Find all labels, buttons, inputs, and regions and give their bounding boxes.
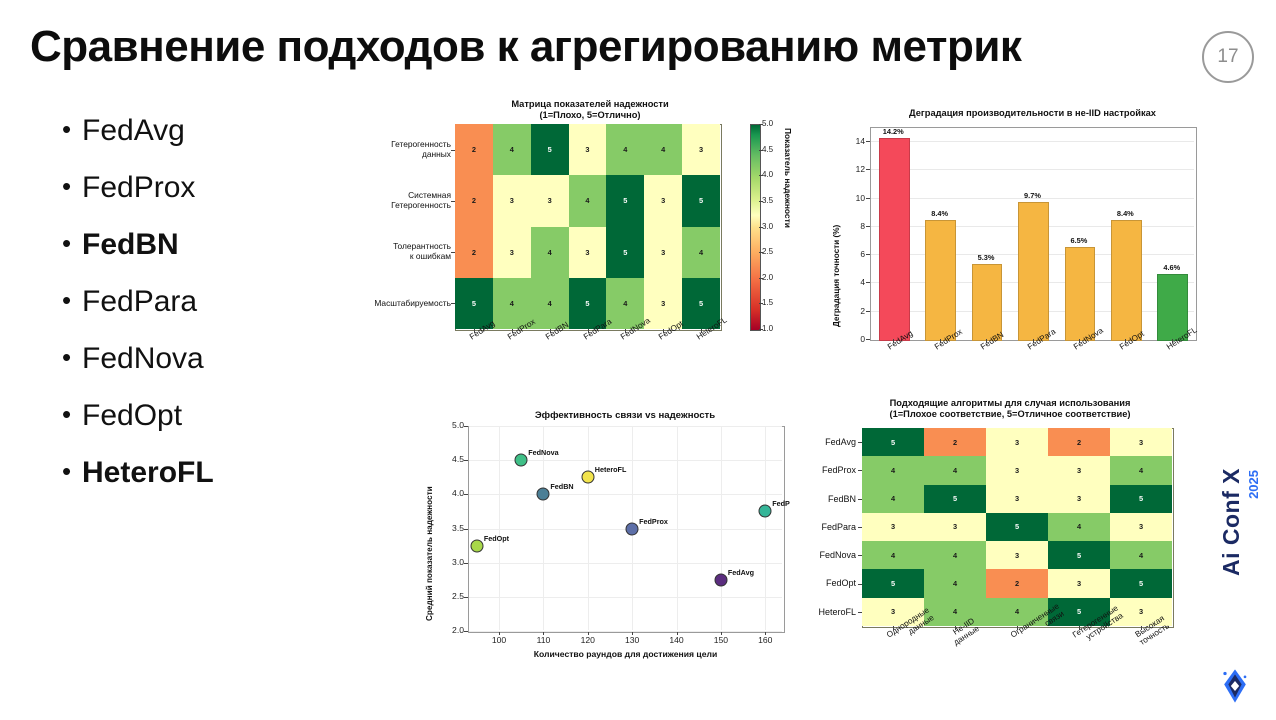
colorbar-tick: 3.0 [762, 222, 773, 231]
scatter-point [537, 488, 550, 501]
heatmap-cell: 5 [924, 485, 986, 513]
axis-tick [451, 150, 455, 151]
logo-name: Ai Conf X [1218, 468, 1245, 576]
axis-tick [451, 303, 455, 304]
row-label-line: Масштабируемость [374, 299, 451, 309]
bullet-label: FedProx [82, 173, 195, 203]
y-axis-tick-label: 2 [847, 306, 865, 316]
heatmap-cell: 5 [986, 513, 1048, 541]
axis-tick [866, 311, 870, 312]
axis-tick [858, 612, 862, 613]
heatmap-cell: 2 [986, 569, 1048, 597]
axis-tick [512, 329, 513, 333]
heatmap-cell: 5 [862, 428, 924, 456]
axis-tick [464, 426, 468, 427]
chart-title-line2: (1=Плохо, 5=Отлично) [410, 110, 770, 121]
heatmap-cell: 4 [924, 569, 986, 597]
axis-tick [464, 563, 468, 564]
y-axis-tick-label: 4.5 [442, 454, 464, 464]
scatter-point [515, 454, 528, 467]
colorbar-tick-mark [759, 124, 763, 125]
heatmap-cell: 3 [986, 428, 1048, 456]
heatmap-cell: 4 [606, 124, 644, 175]
y-axis-tick-label: 14 [847, 136, 865, 146]
scatter-point-label: FedBN [550, 482, 573, 491]
chart-comm-efficiency: Эффективность связи vs надежность 100110… [420, 404, 820, 684]
bar-value-label: 14.2% [873, 127, 914, 136]
x-axis-tick-label: 130 [619, 635, 645, 645]
y-axis-tick-label: 12 [847, 164, 865, 174]
axis-tick [1141, 626, 1142, 630]
scatter-point [581, 471, 594, 484]
heatmap-row-label: FedNova [794, 541, 856, 569]
axis-tick [1172, 339, 1173, 343]
axis-tick [701, 329, 702, 333]
colorbar-tick: 2.5 [762, 247, 773, 256]
conference-logo: Ai Conf X 2025 [1212, 468, 1270, 708]
gridline [871, 141, 1194, 142]
heatmap-cell: 2 [455, 227, 493, 278]
chart-title: Подходящие алгоритмы для случая использо… [810, 398, 1210, 421]
axis-tick [858, 527, 862, 528]
heatmap-cell: 3 [862, 513, 924, 541]
axis-tick [588, 329, 589, 333]
bar [925, 220, 956, 341]
axis-tick [451, 201, 455, 202]
heatmap-cell: 3 [1048, 485, 1110, 513]
bar [972, 264, 1003, 341]
heatmap-row-label: Толерантностьк ошибкам [383, 227, 451, 278]
y-axis-tick-label: 2.0 [442, 625, 464, 635]
bullet-item-fedbn: •FedBN [62, 230, 362, 260]
y-axis-tick-label: 6 [847, 249, 865, 259]
colorbar [750, 124, 761, 331]
axis-tick [940, 339, 941, 343]
axis-tick [858, 555, 862, 556]
heatmap-cell: 5 [1110, 569, 1172, 597]
bullet-label: FedPara [82, 287, 197, 317]
axis-tick [1079, 339, 1080, 343]
heatmap-cell: 4 [862, 541, 924, 569]
gridline [469, 597, 782, 598]
colorbar-tick-mark [759, 252, 763, 253]
x-axis-tick-label: 150 [708, 635, 734, 645]
heatmap-row-label: Гетерогенностьданных [383, 124, 451, 175]
bullet-marker-icon: • [62, 230, 82, 257]
bar-value-label: 8.4% [919, 209, 960, 218]
bullet-marker-icon: • [62, 173, 82, 200]
heatmap-cell: 4 [1048, 513, 1110, 541]
heatmap-cell: 4 [531, 227, 569, 278]
scatter-point-label: FedNova [528, 448, 558, 457]
chart-reliability-matrix: Матрица показателей надежности (1=Плохо,… [380, 96, 800, 386]
colorbar-tick-mark [759, 201, 763, 202]
gridline [871, 169, 1194, 170]
heatmap-row-label: Масштабируемость [383, 278, 451, 329]
chart-title-line2: (1=Плохое соответствие, 5=Отличное соотв… [810, 409, 1210, 420]
heatmap-cell: 4 [569, 175, 607, 226]
heatmap-cell: 3 [1110, 428, 1172, 456]
row-label-line: Гетерогенность [391, 201, 451, 211]
axis-tick [464, 460, 468, 461]
scatter-point [714, 573, 727, 586]
colorbar-tick-mark [759, 303, 763, 304]
axis-tick [866, 226, 870, 227]
bullet-item-fedpara: •FedPara [62, 287, 362, 317]
axis-tick [866, 339, 870, 340]
gridline [469, 563, 782, 564]
heatmap-row-label: FedBN [794, 485, 856, 513]
heatmap-row-label: FedProx [794, 456, 856, 484]
axis-tick [893, 626, 894, 630]
axis-tick [464, 494, 468, 495]
bullet-marker-icon: • [62, 458, 82, 485]
heatmap-row-label: FedAvg [794, 428, 856, 456]
scatter-point [759, 505, 772, 518]
heatmap-cell: 3 [682, 124, 720, 175]
x-axis-tick-label: 120 [575, 635, 601, 645]
bar-value-label: 9.7% [1012, 191, 1053, 200]
bullet-label: FedAvg [82, 116, 185, 146]
colorbar-tick-mark [759, 227, 763, 228]
logo-year: 2025 [1246, 470, 1261, 499]
colorbar-tick: 2.0 [762, 273, 773, 282]
heatmap-cell: 2 [1048, 428, 1110, 456]
heatmap-cell: 3 [1110, 513, 1172, 541]
heatmap-cell: 5 [531, 124, 569, 175]
heatmap-cell: 3 [924, 513, 986, 541]
axis-tick [451, 252, 455, 253]
heatmap-cell: 3 [644, 227, 682, 278]
colorbar-tick-mark [759, 329, 763, 330]
axis-tick [858, 499, 862, 500]
y-axis-title: Средний показатель надежности [425, 436, 434, 621]
x-axis-tick-label: 160 [752, 635, 778, 645]
heatmap-cell: 3 [986, 456, 1048, 484]
heatmap-row-label: СистемнаяГетерогенность [383, 175, 451, 226]
bullet-label: FedNova [82, 344, 204, 374]
chart-title: Эффективность связи vs надежность [460, 410, 790, 422]
axis-tick [866, 198, 870, 199]
x-axis-title: Количество раундов для достижения цели [468, 649, 783, 659]
scatter-point-label: FedAvg [728, 568, 754, 577]
bar [1018, 202, 1049, 341]
heatmap-cell: 3 [986, 541, 1048, 569]
chart-usecase-suitability: Подходящие алгоритмы для случая использо… [790, 396, 1220, 716]
axis-tick [893, 339, 894, 343]
bar-value-label: 8.4% [1105, 209, 1146, 218]
bullet-item-heterofl: •HeteroFL [62, 458, 362, 488]
heatmap-cell: 3 [531, 175, 569, 226]
bar [879, 138, 910, 341]
colorbar-title: Показатель надежности [783, 128, 793, 333]
colorbar-tick-mark [759, 175, 763, 176]
chart-title-line1: Матрица показателей надежности [410, 99, 770, 110]
bullet-label: FedOpt [82, 401, 182, 431]
axis-tick [858, 442, 862, 443]
heatmap-cell: 3 [1048, 456, 1110, 484]
heatmap-cell: 3 [644, 175, 682, 226]
gridline [469, 426, 782, 427]
heatmap-row-label: FedPara [794, 513, 856, 541]
axis-tick [1017, 626, 1018, 630]
bullet-marker-icon: • [62, 116, 82, 143]
axis-tick [955, 626, 956, 630]
colorbar-tick: 1.0 [762, 324, 773, 333]
bar [1065, 247, 1096, 341]
colorbar-tick: 5.0 [762, 119, 773, 128]
axis-tick [986, 339, 987, 343]
colorbar-tick: 3.5 [762, 196, 773, 205]
colorbar-tick: 1.5 [762, 298, 773, 307]
chart-accuracy-degradation: Деградация производительности в не-IID н… [830, 105, 1230, 395]
heatmap-cell: 4 [1110, 541, 1172, 569]
heatmap-cell: 5 [606, 175, 644, 226]
axis-tick [858, 470, 862, 471]
y-axis-tick-label: 4.0 [442, 488, 464, 498]
bullet-marker-icon: • [62, 344, 82, 371]
heatmap-cell: 4 [682, 227, 720, 278]
y-axis-tick-label: 0 [847, 334, 865, 344]
gridline [469, 494, 782, 495]
heatmap-cell: 4 [493, 124, 531, 175]
row-label-line: данных [422, 150, 451, 160]
slide-root: Сравнение подходов к агрегированию метри… [0, 0, 1276, 720]
heatmap-cell: 5 [606, 227, 644, 278]
y-axis-title: Деградация точности (%) [832, 145, 841, 327]
axis-tick [866, 141, 870, 142]
page-number-badge: 17 [1202, 31, 1254, 83]
colorbar-tick-mark [759, 278, 763, 279]
axis-tick [866, 169, 870, 170]
chart-title: Матрица показателей надежности (1=Плохо,… [410, 99, 770, 122]
heatmap-row-label: FedOpt [794, 569, 856, 597]
heatmap-cell: 4 [644, 124, 682, 175]
y-axis-tick-label: 5.0 [442, 420, 464, 430]
x-axis-tick-label: 100 [486, 635, 512, 645]
y-axis-tick-label: 2.5 [442, 591, 464, 601]
y-axis-tick-label: 8 [847, 221, 865, 231]
heatmap-cell: 5 [682, 175, 720, 226]
bullet-marker-icon: • [62, 287, 82, 314]
bullet-item-fednova: •FedNova [62, 344, 362, 374]
heatmap-cell: 4 [924, 541, 986, 569]
bullet-item-fedopt: •FedOpt [62, 401, 362, 431]
gridline [469, 631, 782, 632]
bar-value-label: 5.3% [966, 253, 1007, 262]
heatmap-cell: 3 [569, 124, 607, 175]
scatter-point [626, 522, 639, 535]
heatmap-cell: 3 [1048, 569, 1110, 597]
axis-tick [464, 597, 468, 598]
bullet-item-fedavg: •FedAvg [62, 116, 362, 146]
axis-tick [866, 282, 870, 283]
heatmap-cell: 5 [862, 569, 924, 597]
axis-tick [464, 631, 468, 632]
scatter-point-label: FedOpt [484, 534, 509, 543]
heatmap-cell: 2 [455, 124, 493, 175]
y-axis-tick-label: 10 [847, 193, 865, 203]
y-axis-tick-label: 3.5 [442, 523, 464, 533]
chart-title-line1: Подходящие алгоритмы для случая использо… [810, 398, 1210, 409]
scatter-point-label: HeteroFL [595, 465, 627, 474]
bullet-item-fedprox: •FedProx [62, 173, 362, 203]
heatmap-cell: 3 [493, 175, 531, 226]
heatmap-cell: 3 [493, 227, 531, 278]
axis-tick [1125, 339, 1126, 343]
heatmap-cell: 4 [862, 485, 924, 513]
heatmap-cell: 4 [1110, 456, 1172, 484]
heatmap-cell: 4 [862, 456, 924, 484]
heatmap-cell: 2 [924, 428, 986, 456]
bar-value-label: 4.6% [1151, 263, 1192, 272]
bullet-marker-icon: • [62, 401, 82, 428]
axis-tick [464, 529, 468, 530]
heatmap-cell: 5 [1110, 485, 1172, 513]
y-axis-tick-label: 3.0 [442, 557, 464, 567]
colorbar-tick: 4.0 [762, 170, 773, 179]
axis-tick [1033, 339, 1034, 343]
colorbar-tick: 4.5 [762, 145, 773, 154]
page-title: Сравнение подходов к агрегированию метри… [30, 22, 1170, 72]
heatmap-cell: 4 [924, 456, 986, 484]
x-axis-tick-label: 110 [530, 635, 556, 645]
axis-tick [550, 329, 551, 333]
axis-tick [1079, 626, 1080, 630]
scatter-point-label: FedProx [639, 517, 668, 526]
bar-value-label: 6.5% [1059, 236, 1100, 245]
scatter-point [470, 539, 483, 552]
row-label-line: к ошибкам [410, 252, 451, 262]
heatmap-cell: 3 [569, 227, 607, 278]
bar [1111, 220, 1142, 341]
x-axis-tick-label: 140 [664, 635, 690, 645]
axis-tick [474, 329, 475, 333]
aiconf-logo-icon [1218, 666, 1252, 706]
axis-tick [866, 254, 870, 255]
heatmap-cell: 2 [455, 175, 493, 226]
colorbar-tick-mark [759, 150, 763, 151]
y-axis-tick-label: 4 [847, 277, 865, 287]
axis-tick [625, 329, 626, 333]
heatmap-cell: 5 [1048, 541, 1110, 569]
bullet-label: HeteroFL [82, 458, 214, 488]
chart-title: Деградация производительности в не-IID н… [840, 108, 1225, 119]
bullet-label: FedBN [82, 230, 179, 260]
axis-tick [858, 584, 862, 585]
algorithm-bullet-list: •FedAvg•FedProx•FedBN•FedPara•FedNova•Fe… [62, 116, 362, 515]
heatmap-row-label: HeteroFL [794, 598, 856, 626]
axis-tick [663, 329, 664, 333]
heatmap-cell: 3 [986, 485, 1048, 513]
